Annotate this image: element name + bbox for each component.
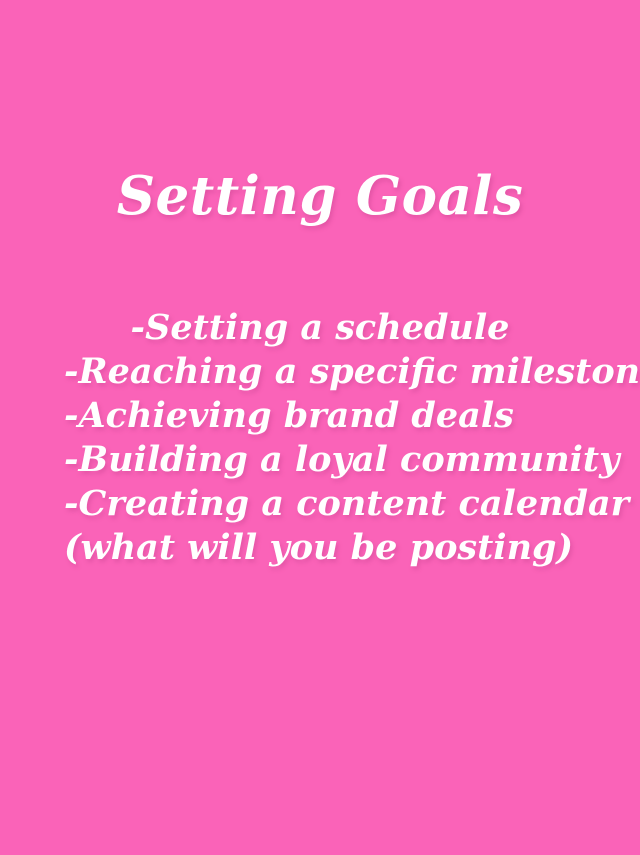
list-item: -Reaching a specific milestone <box>0 350 640 394</box>
title-block: Setting Goals <box>0 168 640 225</box>
list-item: -Creating a content calendar <box>0 482 640 526</box>
slide-canvas: Setting Goals -Setting a schedule -Reach… <box>0 0 640 855</box>
list-item: (what will you be posting) <box>0 526 640 570</box>
list-item: -Achieving brand deals <box>0 394 640 438</box>
goals-list: -Setting a schedule -Reaching a specific… <box>0 306 640 570</box>
page-title: Setting Goals <box>117 168 524 225</box>
list-item: -Building a loyal community <box>0 438 640 482</box>
list-item: -Setting a schedule <box>0 306 640 350</box>
